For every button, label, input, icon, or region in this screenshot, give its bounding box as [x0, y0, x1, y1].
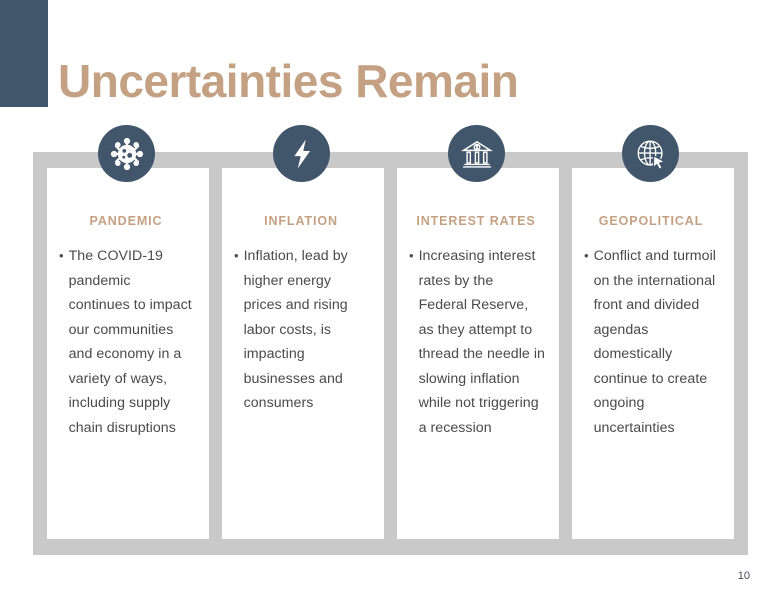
column-body-interest-rates: Increasing interest rates by the Federal… — [419, 244, 545, 440]
column-pandemic: PANDEMIC • The COVID-19 pandemic continu… — [47, 168, 209, 539]
column-heading-interest-rates: INTEREST RATES — [407, 214, 545, 228]
bank-building-icon — [448, 125, 505, 182]
bullet-marker-icon: • — [584, 244, 589, 269]
page-title: Uncertainties Remain — [58, 58, 518, 104]
column-heading-inflation: INFLATION — [232, 214, 370, 228]
column-heading-geopolitical: GEOPOLITICAL — [582, 214, 720, 228]
bullet-marker-icon: • — [59, 244, 64, 269]
column-geopolitical: GEOPOLITICAL • Conflict and turmoil on t… — [572, 168, 734, 539]
list-item: • Conflict and turmoil on the internatio… — [582, 244, 720, 440]
bullet-marker-icon: • — [234, 244, 239, 269]
page-number: 10 — [738, 570, 750, 582]
column-body-inflation: Inflation, lead by higher energy prices … — [244, 244, 370, 416]
globe-cursor-icon — [622, 125, 679, 182]
virus-icon — [98, 125, 155, 182]
column-interest-rates: INTEREST RATES • Increasing interest rat… — [397, 168, 559, 539]
column-body-geopolitical: Conflict and turmoil on the internationa… — [594, 244, 720, 440]
list-item: • Inflation, lead by higher energy price… — [232, 244, 370, 416]
bullet-marker-icon: • — [409, 244, 414, 269]
column-body-pandemic: The COVID-19 pandemic continues to impac… — [69, 244, 195, 440]
list-item: • Increasing interest rates by the Feder… — [407, 244, 545, 440]
slide-canvas: Uncertainties Remain PANDEMIC • The COVI… — [0, 0, 775, 599]
column-heading-pandemic: PANDEMIC — [57, 214, 195, 228]
column-inflation: INFLATION • Inflation, lead by higher en… — [222, 168, 384, 539]
list-item: • The COVID-19 pandemic continues to imp… — [57, 244, 195, 440]
lightning-bolt-icon — [273, 125, 330, 182]
content-grid: PANDEMIC • The COVID-19 pandemic continu… — [33, 152, 748, 555]
corner-accent-block — [0, 0, 48, 107]
